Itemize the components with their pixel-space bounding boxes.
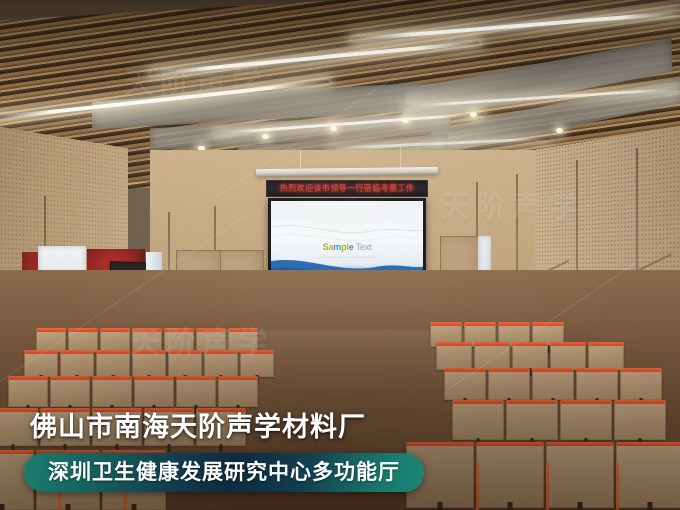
seat-row <box>406 444 680 508</box>
seat-leg <box>220 444 223 452</box>
auditorium-seat <box>36 330 66 352</box>
auditorium-seat <box>240 352 274 377</box>
screen-support-cable <box>400 146 401 170</box>
auditorium-seat <box>546 444 614 508</box>
auditorium-seat <box>8 378 48 407</box>
auditorium-seat <box>488 370 530 400</box>
auditorium-seat <box>68 330 98 352</box>
auditorium-seat <box>0 410 38 446</box>
auditorium-seat <box>92 378 132 407</box>
auditorium-seat <box>144 410 194 446</box>
ceiling-downlight <box>262 134 269 139</box>
seat-row <box>444 370 662 400</box>
ceiling-downlight <box>470 112 477 117</box>
auditorium-seat <box>102 452 166 510</box>
seat-leg <box>438 502 443 510</box>
auditorium-seat <box>196 330 226 352</box>
auditorium-seat <box>436 344 472 370</box>
auditorium-seat <box>474 344 510 370</box>
seat-leg <box>132 504 137 510</box>
auditorium-seat <box>560 402 612 440</box>
auditorium-seat <box>132 352 166 377</box>
auditorium-seat <box>168 352 202 377</box>
seat-row <box>24 352 274 377</box>
auditorium-seat <box>196 410 246 446</box>
auditorium-seat <box>406 444 474 508</box>
led-scrolling-banner: 热烈欢迎该市领导一行莅临考察工作 <box>266 180 428 197</box>
screen-support-cable <box>300 150 301 170</box>
seat-row <box>36 330 258 352</box>
auditorium-photo: 热烈欢迎该市领导一行莅临考察工作 Sample Text Lorem ipsum… <box>0 0 680 510</box>
seat-row <box>436 344 624 370</box>
auditorium-seat <box>228 330 258 352</box>
seat-row <box>0 452 166 510</box>
auditorium-seat <box>50 378 90 407</box>
auditorium-seat <box>176 378 216 407</box>
auditorium-seat <box>204 352 238 377</box>
auditorium-seat <box>476 444 544 508</box>
auditorium-seat <box>620 370 662 400</box>
seat-armrest <box>124 470 127 510</box>
auditorium-seat <box>444 370 486 400</box>
auditorium-seat <box>588 344 624 370</box>
auditorium-seat <box>0 452 34 510</box>
seat-armrest <box>616 462 619 510</box>
auditorium-seat <box>36 452 100 510</box>
led-banner-text: 热烈欢迎该市领导一行莅临考察工作 <box>280 183 414 195</box>
auditorium-seat <box>550 344 586 370</box>
seat-armrest <box>546 462 549 510</box>
slide-subtitle: Lorem ipsum dolor sit amet consectetur <box>271 256 423 259</box>
seat-leg <box>168 444 171 452</box>
auditorium-seat <box>164 330 194 352</box>
ceiling-downlight <box>330 126 337 131</box>
seat-armrest <box>58 470 61 510</box>
slide-title-letter: m <box>333 242 341 252</box>
slide-title-plain: Text <box>354 242 372 252</box>
seat-row <box>452 402 666 440</box>
auditorium-seat <box>218 378 258 407</box>
auditorium-seat <box>92 410 142 446</box>
auditorium-seat <box>40 410 90 446</box>
seat-armrest <box>476 462 479 510</box>
seat-leg <box>648 502 653 510</box>
seat-leg <box>0 504 5 510</box>
ceiling-downlight <box>402 118 409 123</box>
auditorium-seat <box>512 344 548 370</box>
auditorium-seat <box>532 370 574 400</box>
auditorium-seat <box>614 402 666 440</box>
auditorium-seat <box>96 352 130 377</box>
seat-leg <box>578 502 583 510</box>
seat-row <box>8 378 258 407</box>
slide-title: Sample Text <box>271 243 423 252</box>
auditorium-seat <box>576 370 618 400</box>
auditorium-seat <box>132 330 162 352</box>
auditorium-seat <box>452 402 504 440</box>
seat-row <box>0 410 246 446</box>
auditorium-seat <box>134 378 174 407</box>
auditorium-seat <box>24 352 58 377</box>
ceiling-downlight <box>556 128 563 133</box>
seat-leg <box>66 504 71 510</box>
auditorium-seat <box>60 352 94 377</box>
seat-leg <box>508 502 513 510</box>
auditorium-seat <box>616 444 680 508</box>
auditorium-seat <box>100 330 130 352</box>
auditorium-seat <box>506 402 558 440</box>
